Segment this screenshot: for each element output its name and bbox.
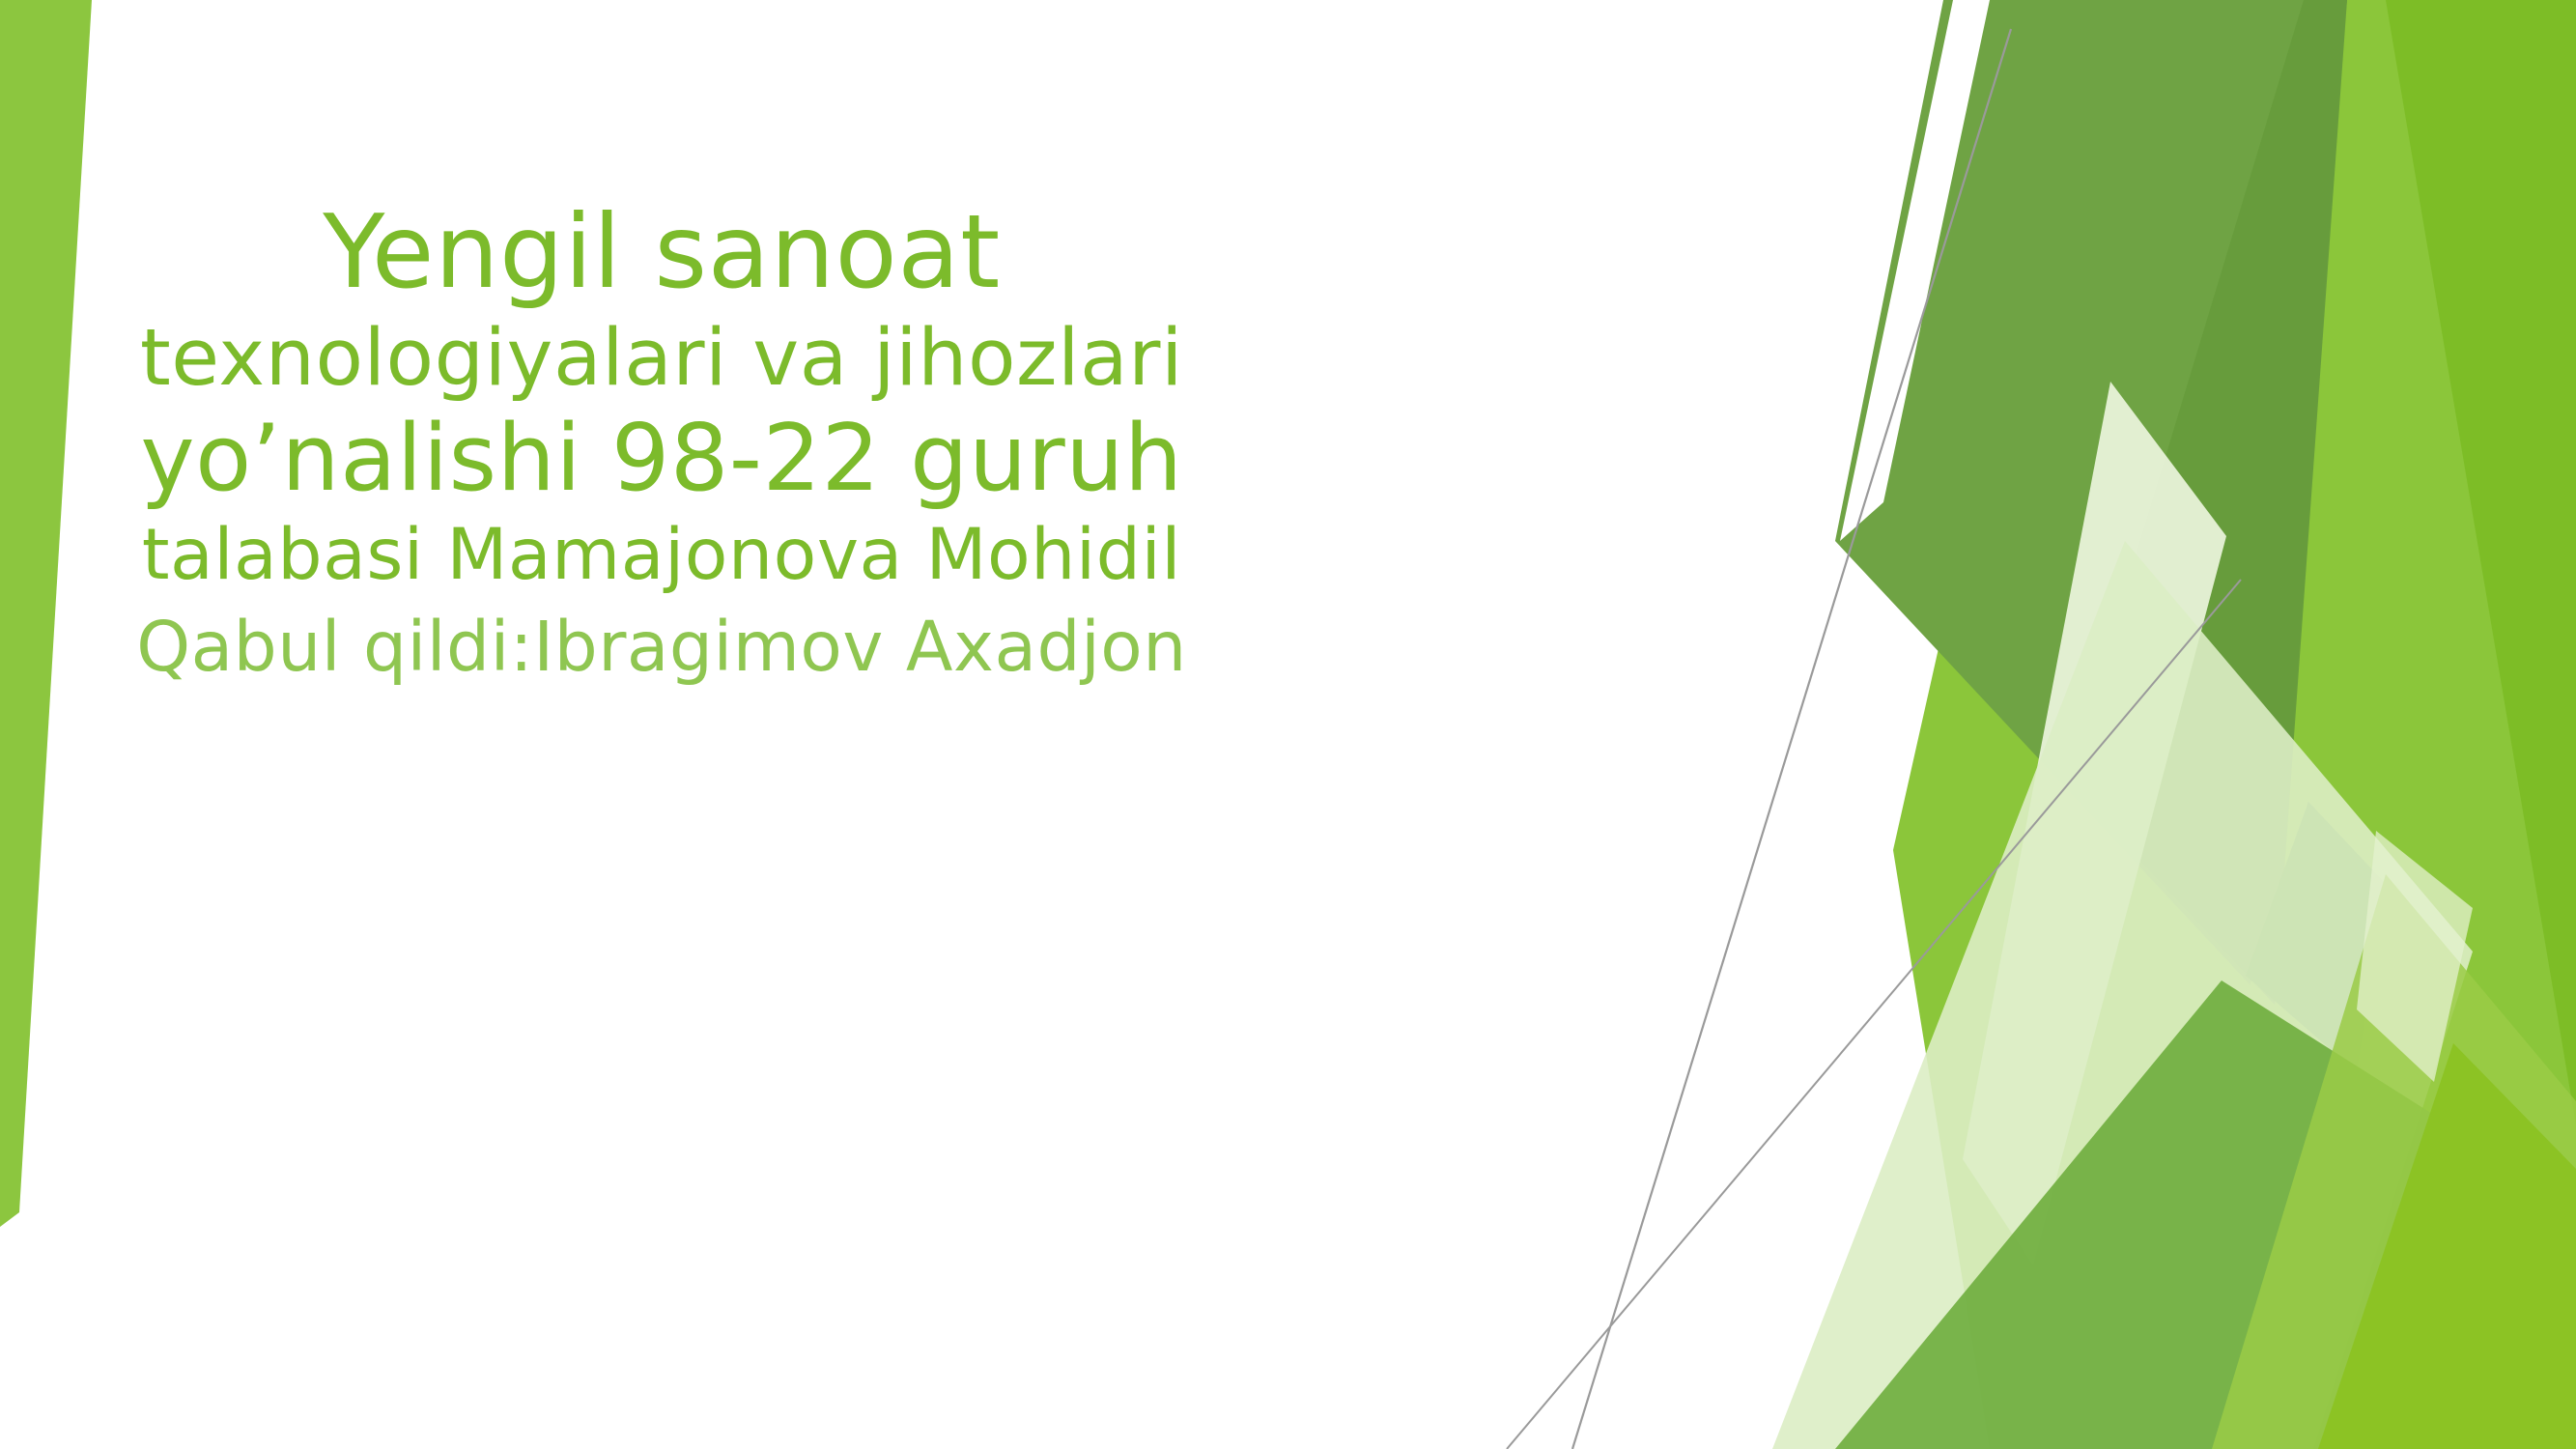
slide-canvas: Yengil sanoat texnologiyalari va jihozla… (0, 0, 2576, 1449)
title-line-4: talabasi Mamajonova Mohidil (135, 514, 1188, 597)
subtitle-line-1: Qabul qildi:Ibragimov Axadjon (135, 607, 1188, 688)
title-text-block: Yengil sanoat texnologiyalari va jihozla… (135, 193, 1188, 687)
title-line-3: yo’nalishi 98-22 guruh (135, 405, 1188, 513)
title-line-1: Yengil sanoat (135, 193, 1188, 313)
title-line-2: texnologiyalari va jihozlari (135, 313, 1188, 406)
